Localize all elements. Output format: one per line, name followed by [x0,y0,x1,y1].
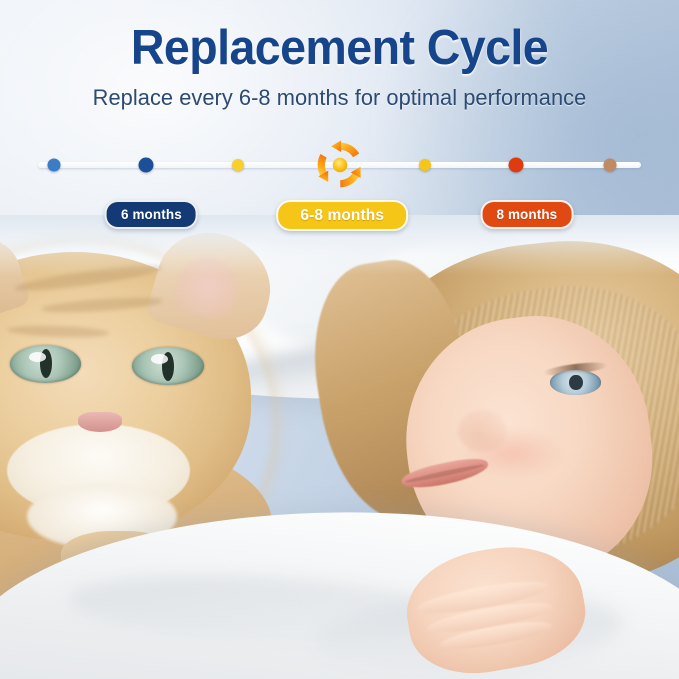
headline-block: Replacement Cycle Replace every 6-8 mont… [0,24,679,111]
dot-2 [138,158,153,173]
dot-4 [419,159,431,171]
dot-5 [509,158,524,173]
replacement-timeline [38,160,641,170]
cat-eye-glint [29,352,46,362]
girl-pupil [569,375,582,390]
cat-eye-left [10,345,81,383]
timeline-labels: 6 months6-8 months8 months [0,200,679,226]
label-6-months: 6 months [105,200,198,229]
cat-eye-right [132,347,203,385]
dot-3 [232,159,244,171]
page-title: Replacement Cycle [17,24,662,73]
lifestyle-photo [0,215,679,679]
cat-eye-glint [151,354,168,364]
dot-6 [604,159,617,172]
page-subtitle: Replace every 6-8 months for optimal per… [10,85,669,111]
cat-nose [78,412,122,431]
label-8-months: 8 months [480,200,573,229]
girl-nose [458,410,506,452]
dot-1 [48,159,61,172]
photo-inner [0,215,679,679]
recycle-cycle-icon [314,139,366,191]
girl-eye [550,370,601,394]
pills-host: 6 months6-8 months8 months [0,200,679,226]
replacement-cycle-banner: Replacement Cycle Replace every 6-8 mont… [0,0,679,679]
label-6-8-months: 6-8 months [276,200,408,231]
